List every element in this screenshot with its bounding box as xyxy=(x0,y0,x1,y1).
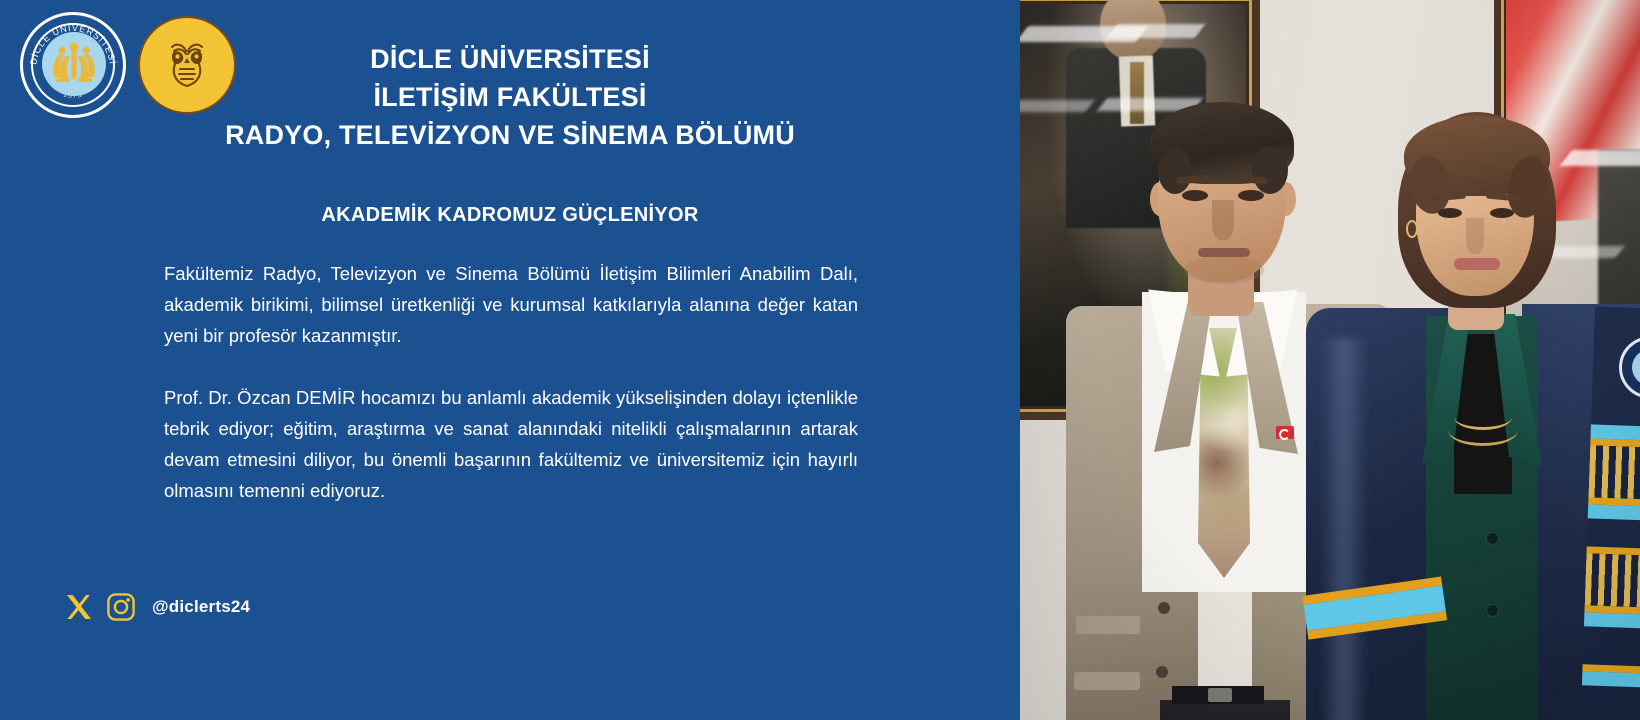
stole-cyan-band xyxy=(1582,671,1640,688)
woman-nose xyxy=(1466,218,1484,254)
woman-robe-sheen xyxy=(1320,338,1368,720)
woman-hair-fringe xyxy=(1404,116,1550,196)
stole-ornament-band xyxy=(1585,553,1640,608)
announcement-body: Fakültemiz Radyo, Televizyon ve Sinema B… xyxy=(164,258,858,506)
social-handle[interactable]: @diclerts24 xyxy=(152,597,250,617)
title-line-3: RADYO, TELEVİZYON VE SİNEMA BÖLÜMÜ xyxy=(190,116,830,154)
man-hair xyxy=(1150,102,1294,184)
man-chin xyxy=(1184,256,1264,284)
announcement-poster: DİCLE ÜNİVERSİTESİ 1973 xyxy=(0,0,1640,720)
glass-glare xyxy=(1107,24,1206,38)
woman-eye-left xyxy=(1438,208,1462,218)
body-paragraph-1: Fakültemiz Radyo, Televizyon ve Sinema B… xyxy=(164,258,858,351)
x-twitter-icon[interactable] xyxy=(64,592,94,622)
woman-lips xyxy=(1454,258,1500,270)
man-jacket-button xyxy=(1156,666,1168,678)
instagram-icon[interactable] xyxy=(106,592,136,622)
ceremony-photo xyxy=(1020,0,1640,720)
social-footer: @diclerts24 xyxy=(64,592,250,622)
woman-earring xyxy=(1406,220,1418,238)
stole-band xyxy=(1584,546,1640,629)
woman-jacket-button xyxy=(1486,604,1499,617)
stole-band xyxy=(1582,664,1640,688)
title-line-2: İLETİŞİM FAKÜLTESİ xyxy=(190,78,830,116)
university-seal-logo: DİCLE ÜNİVERSİTESİ 1973 xyxy=(20,12,126,118)
man-jacket-button xyxy=(1158,602,1170,614)
man-mouth xyxy=(1198,248,1250,257)
stole-seal-inner xyxy=(1631,349,1640,386)
body-paragraph-2: Prof. Dr. Özcan DEMİR hocamızı bu anlaml… xyxy=(164,382,858,506)
page-title: DİCLE ÜNİVERSİTESİ İLETİŞİM FAKÜLTESİ RA… xyxy=(190,40,830,154)
title-line-1: DİCLE ÜNİVERSİTESİ xyxy=(190,40,830,78)
stole-cyan-band xyxy=(1588,504,1640,521)
double-headed-eagle-icon xyxy=(48,41,100,87)
man-belt-buckle xyxy=(1208,688,1232,702)
stole-ornament-band xyxy=(1588,445,1640,500)
person-woman xyxy=(1340,108,1640,720)
woman-necklace xyxy=(1448,414,1518,446)
man-eye-right xyxy=(1238,190,1264,201)
stole-band xyxy=(1588,424,1640,521)
man-jacket-pocket xyxy=(1076,616,1140,634)
man-nose xyxy=(1212,200,1234,240)
man-eye-left xyxy=(1182,190,1208,201)
subtitle-heading: AKADEMİK KADROMUZ GÜÇLENİYOR xyxy=(190,204,830,227)
man-jacket-pocket xyxy=(1074,672,1140,690)
stole-cyan-band xyxy=(1584,612,1640,629)
turkish-flag-pin-icon xyxy=(1276,426,1294,439)
woman-eye-right xyxy=(1490,208,1514,218)
stole-university-seal xyxy=(1618,335,1640,399)
seal-crest xyxy=(42,32,106,96)
woman-jacket-button xyxy=(1486,532,1499,545)
left-content-panel: DİCLE ÜNİVERSİTESİ 1973 xyxy=(0,0,1020,720)
